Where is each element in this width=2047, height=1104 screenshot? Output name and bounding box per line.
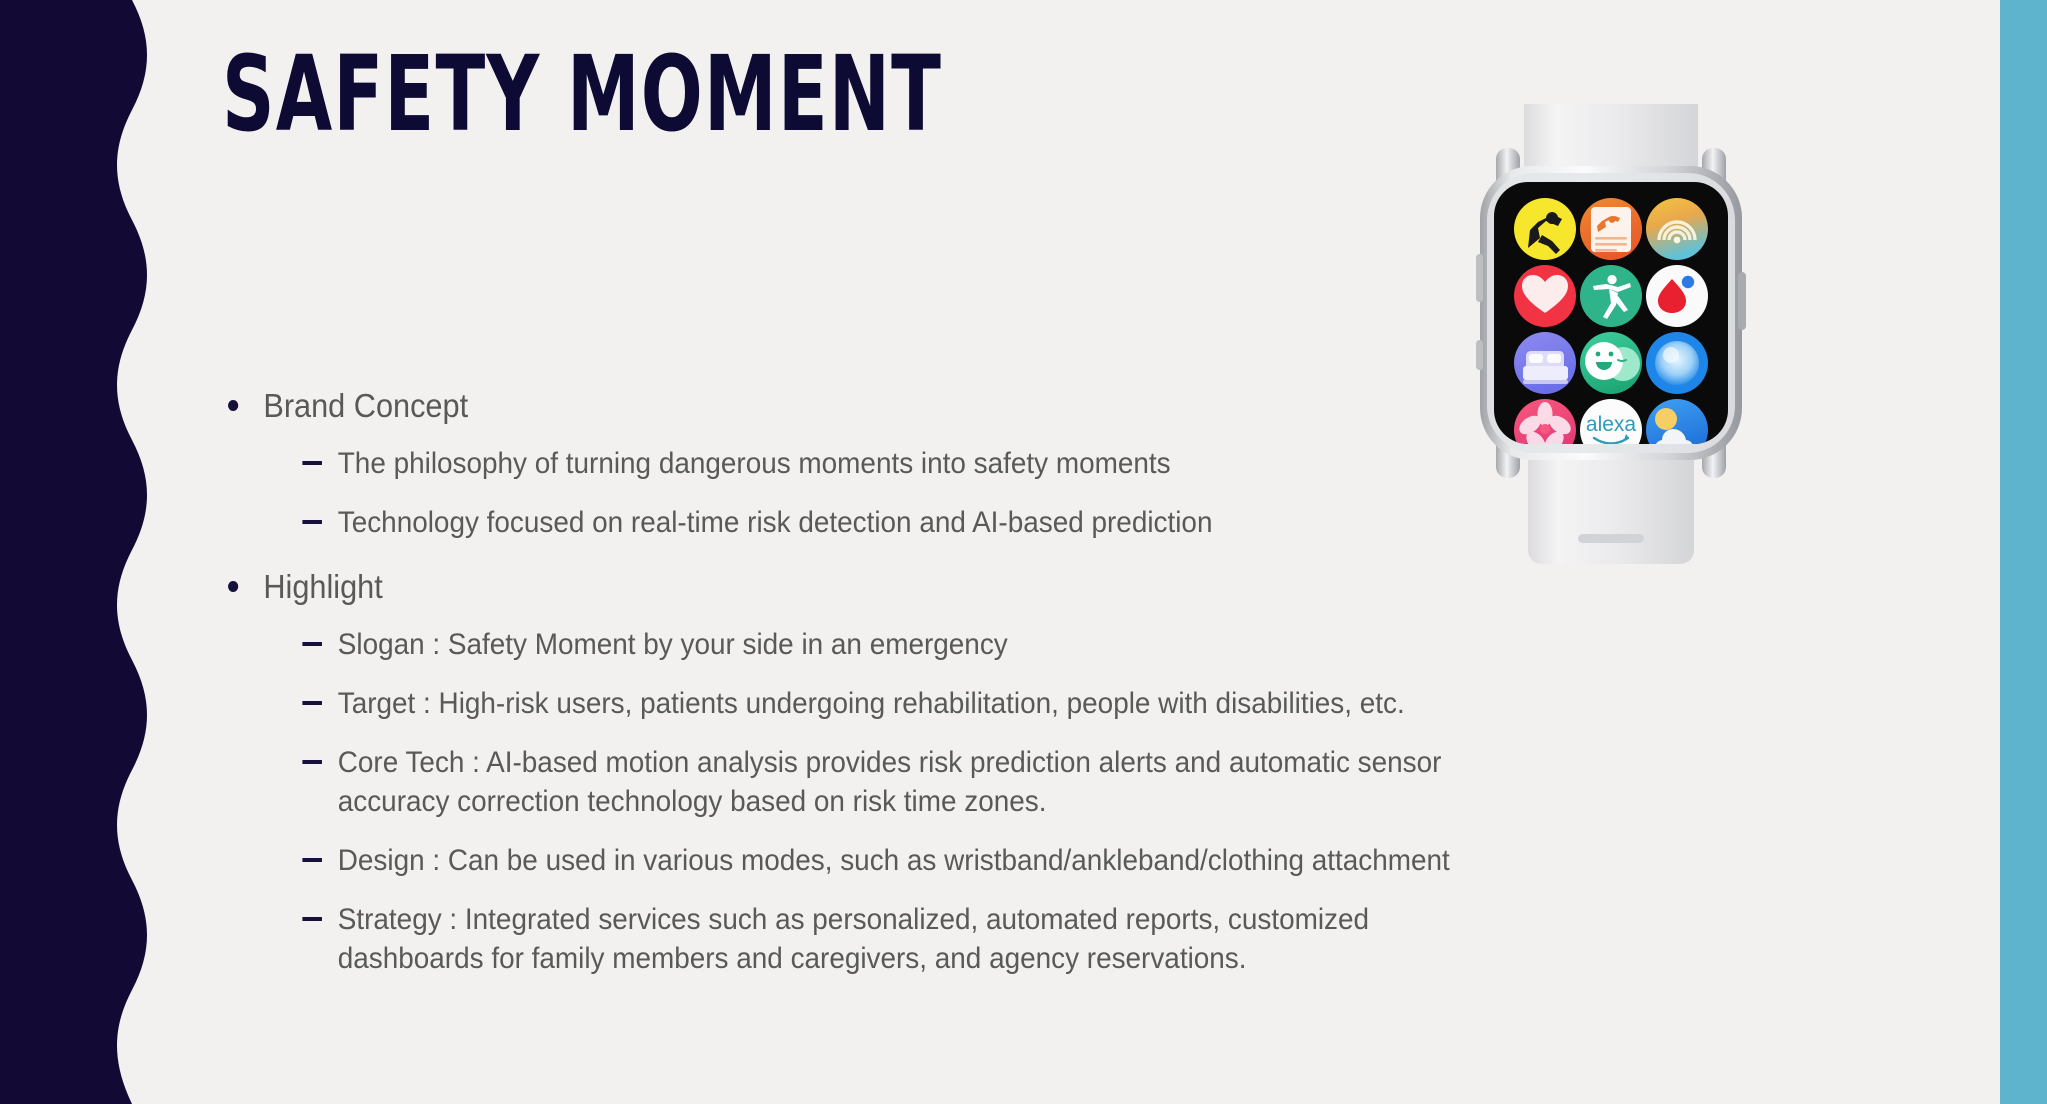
watch-side-button[interactable] [1738, 272, 1746, 330]
bullet-level2-technology: Technology focused on real-time risk det… [215, 503, 1512, 542]
watch-screen[interactable]: alexa [1494, 182, 1728, 461]
page-title: SAFETY MOMENT [222, 38, 942, 150]
accent-bar-right [2000, 0, 2047, 1104]
smartwatch-image: alexa [1466, 104, 1756, 654]
sleep-app-icon[interactable] [1514, 332, 1576, 394]
navy-wave-band [0, 0, 170, 1104]
running-app-icon[interactable] [1514, 198, 1576, 260]
bullet-dash-icon [302, 760, 322, 764]
bullet-text: Highlight [263, 568, 382, 605]
navy-wave-path [0, 0, 147, 1104]
bullet-text: Strategy : Integrated services such as p… [338, 903, 1369, 975]
workout-log-app-icon[interactable] [1580, 198, 1642, 260]
bullet-dash-icon [302, 917, 322, 921]
bullet-text: Core Tech : AI-based motion analysis pro… [338, 746, 1442, 818]
slide-canvas: SAFETY MOMENT Brand Concept The philosop… [0, 0, 2047, 1104]
bullet-level2-target: Target : High-risk users, patients under… [215, 684, 1512, 723]
bullet-dash-icon [302, 858, 322, 862]
bullet-level2-slogan: Slogan : Safety Moment by your side in a… [215, 625, 1512, 664]
breathe-app-icon[interactable] [1646, 332, 1708, 394]
bullet-list: Brand Concept The philosophy of turning … [215, 385, 1610, 998]
alexa-label: alexa [1586, 413, 1637, 436]
bullet-text: Brand Concept [263, 387, 468, 424]
bullet-text: The philosophy of turning dangerous mome… [338, 447, 1171, 480]
activity-rings-app-icon[interactable] [1646, 198, 1708, 260]
bullet-dot-icon [228, 581, 238, 592]
bullet-dash-icon [302, 701, 322, 705]
bullet-dot-icon [228, 400, 238, 411]
bullet-level1-brand-concept: Brand Concept [215, 385, 1512, 428]
bullet-dash-icon [302, 642, 322, 646]
bullet-text: Design : Can be used in various modes, s… [338, 844, 1450, 877]
bullet-level2-core-tech: Core Tech : AI-based motion analysis pro… [215, 743, 1512, 821]
bullet-dash-icon [302, 461, 322, 465]
bullet-text: Slogan : Safety Moment by your side in a… [338, 628, 1008, 661]
stretching-app-icon[interactable] [1580, 265, 1642, 327]
heart-rate-app-icon[interactable] [1514, 265, 1576, 327]
mood-app-icon[interactable] [1580, 332, 1642, 394]
bullet-level2-strategy: Strategy : Integrated services such as p… [215, 900, 1512, 978]
bullet-text: Target : High-risk users, patients under… [338, 687, 1405, 720]
bullet-level2-philosophy: The philosophy of turning dangerous mome… [215, 444, 1512, 483]
bullet-level1-highlight: Highlight [215, 566, 1512, 609]
bullet-level2-design: Design : Can be used in various modes, s… [215, 841, 1512, 880]
bullet-text: Technology focused on real-time risk det… [338, 506, 1213, 539]
blood-oxygen-app-icon[interactable] [1646, 265, 1708, 327]
bullet-dash-icon [302, 520, 322, 524]
